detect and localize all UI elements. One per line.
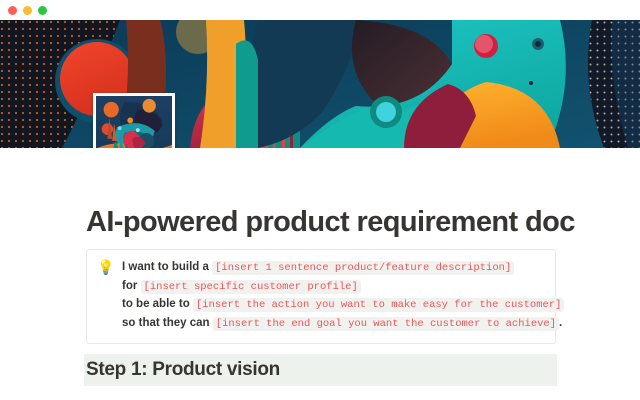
app-window: AI-powered product requirement doc 💡 I w… [0, 0, 640, 400]
callout-line-1-placeholder[interactable]: [insert 1 sentence product/feature descr… [212, 261, 514, 275]
callout-text: I want to build a [insert 1 sentence pro… [122, 259, 564, 333]
document-content: AI-powered product requirement doc 💡 I w… [0, 148, 640, 400]
callout-line-1: I want to build a [insert 1 sentence pro… [122, 259, 564, 278]
callout-line-3-placeholder[interactable]: [insert the action you want to make easy… [193, 298, 564, 312]
close-window-button[interactable] [8, 6, 17, 15]
callout-line-4-placeholder[interactable]: [insert the end goal you want the custom… [213, 317, 559, 331]
window-titlebar [0, 0, 640, 20]
minimize-window-button[interactable] [23, 6, 32, 15]
callout-line-4-prefix: so that they can [122, 317, 210, 329]
callout-line-4-suffix: . [559, 317, 562, 329]
callout-block[interactable]: 💡 I want to build a [insert 1 sentence p… [86, 249, 556, 344]
maximize-window-button[interactable] [38, 6, 47, 15]
traffic-light-group [8, 6, 47, 15]
callout-line-2: for [insert specific customer profile] [122, 278, 564, 297]
lightbulb-emoji: 💡 [97, 259, 114, 276]
callout-line-3-prefix: to be able to [122, 298, 190, 310]
callout-line-1-prefix: I want to build a [122, 261, 209, 273]
callout-line-4: so that they can [insert the end goal yo… [122, 315, 564, 334]
callout-line-2-prefix: for [122, 280, 137, 292]
page-title[interactable]: AI-powered product requirement doc [86, 205, 575, 239]
callout-line-3: to be able to [insert the action you wan… [122, 296, 564, 315]
section-heading-highlight[interactable]: Step 1: Product vision [84, 354, 557, 386]
section-heading-step-1: Step 1: Product vision [86, 358, 280, 382]
callout-line-2-placeholder[interactable]: [insert specific customer profile] [141, 280, 361, 294]
